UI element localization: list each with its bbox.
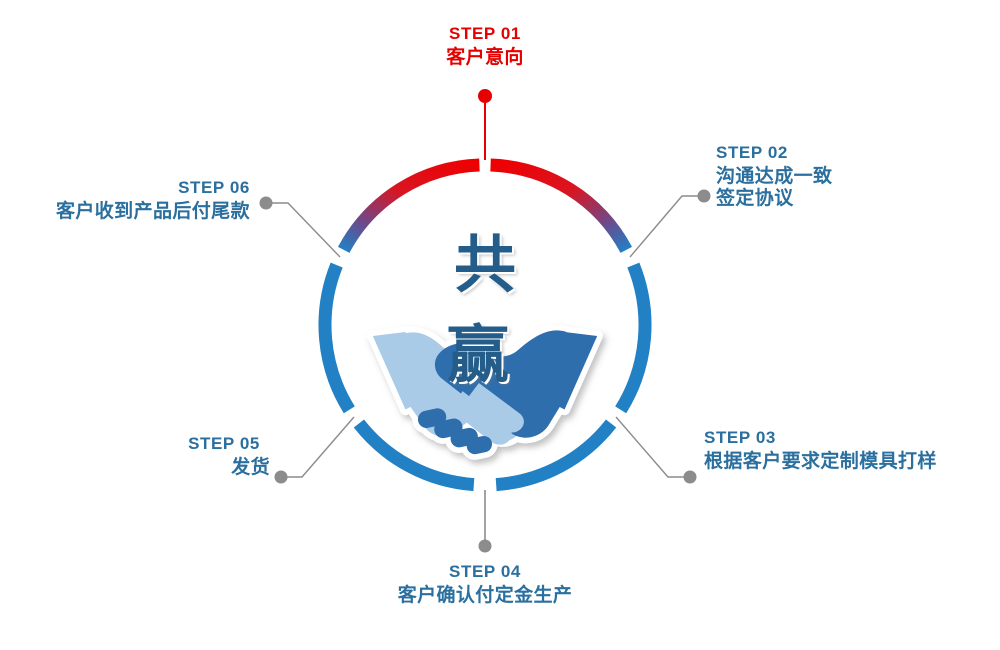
connector-step-05	[284, 417, 354, 477]
step-number-05: STEP 05	[110, 434, 260, 454]
center-slogan: 共 赢	[385, 214, 585, 394]
ring-segment-2	[621, 265, 645, 410]
node-dot-step-02	[698, 190, 711, 203]
step-desc-06: 客户收到产品后付尾款	[10, 201, 250, 223]
step-label-01[interactable]: STEP 01 客户意向	[385, 24, 585, 69]
step-number-06: STEP 06	[10, 178, 250, 198]
step-number-01: STEP 01	[385, 24, 585, 44]
ring-segment-5	[325, 265, 349, 410]
infographic-canvas: 共 赢 STEP 01 客户意向 STEP 02 沟通达成一致 签定协议 STE…	[0, 0, 1000, 650]
node-dot-step-01	[478, 89, 492, 103]
step-desc-02-line2: 签定协议	[716, 188, 976, 210]
step-number-03: STEP 03	[704, 428, 994, 448]
step-desc-01: 客户意向	[385, 47, 585, 69]
node-dot-step-05	[275, 471, 288, 484]
step-label-04[interactable]: STEP 04 客户确认付定金生产	[385, 562, 585, 607]
connector-step-02	[630, 196, 702, 257]
step-desc-02: 沟通达成一致	[716, 166, 976, 188]
node-dot-step-04	[479, 540, 492, 553]
step-number-04: STEP 04	[385, 562, 585, 582]
node-dot-step-03	[684, 471, 697, 484]
connector-step-03	[616, 417, 688, 477]
node-dot-step-06	[260, 197, 273, 210]
step-desc-05: 发货	[110, 457, 270, 479]
step-desc-03: 根据客户要求定制模具打样	[704, 451, 994, 473]
step-number-02: STEP 02	[716, 143, 976, 163]
step-label-02[interactable]: STEP 02 沟通达成一致 签定协议	[716, 143, 976, 211]
connector-step-06	[270, 203, 340, 257]
step-label-06[interactable]: STEP 06 客户收到产品后付尾款	[10, 178, 250, 223]
step-label-05[interactable]: STEP 05 发货	[110, 434, 270, 479]
step-desc-04: 客户确认付定金生产	[385, 585, 585, 607]
step-label-03[interactable]: STEP 03 根据客户要求定制模具打样	[704, 428, 994, 473]
